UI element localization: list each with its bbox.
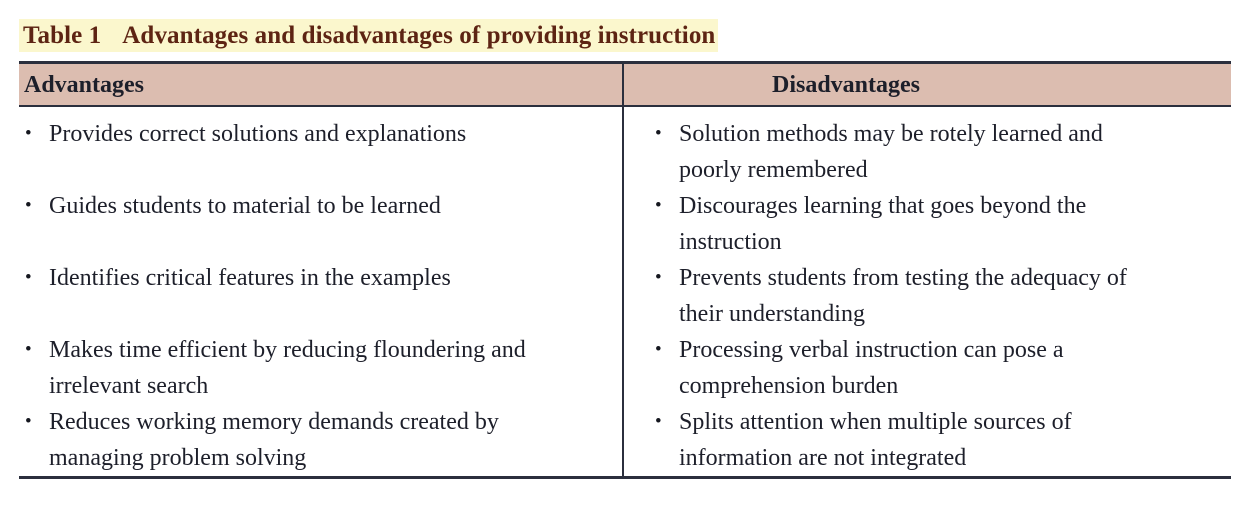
table-header-row: Advantages Disadvantages xyxy=(19,64,1231,107)
column-header-advantages: Advantages xyxy=(19,64,624,105)
list-item-line: Discourages learning that goes beyond th… xyxy=(679,188,1231,224)
list-item-line: irrelevant search xyxy=(49,368,622,404)
list-item-line: Guides students to material to be learne… xyxy=(49,188,622,224)
table-body: Provides correct solutions and explanati… xyxy=(19,107,1231,476)
list-item: Makes time efficient by reducing flounde… xyxy=(23,332,622,404)
list-item-line: instruction xyxy=(679,224,1231,260)
list-item-line: managing problem solving xyxy=(49,440,622,476)
list-item: Splits attention when multiple sources o… xyxy=(653,404,1231,476)
list-item-line: comprehension burden xyxy=(679,368,1231,404)
list-item: Identifies critical features in the exam… xyxy=(23,260,622,296)
column-header-disadvantages-label: Disadvantages xyxy=(772,71,920,99)
list-item: Discourages learning that goes beyond th… xyxy=(653,188,1231,260)
list-item-line: Splits attention when multiple sources o… xyxy=(679,404,1231,440)
list-item-line: Solution methods may be rotely learned a… xyxy=(679,116,1231,152)
disadvantages-cell: Solution methods may be rotely learned a… xyxy=(624,107,1231,476)
list-item-line: Provides correct solutions and explanati… xyxy=(49,116,622,152)
list-item: Solution methods may be rotely learned a… xyxy=(653,116,1231,188)
list-item-line: information are not integrated xyxy=(679,440,1231,476)
column-header-disadvantages: Disadvantages xyxy=(624,64,1231,105)
comparison-table: Advantages Disadvantages Provides correc… xyxy=(19,61,1231,479)
list-item: Reduces working memory demands created b… xyxy=(23,404,622,476)
list-item: Provides correct solutions and explanati… xyxy=(23,116,622,152)
list-item-line: their understanding xyxy=(679,296,1231,332)
caption-label: Table 1 xyxy=(23,21,101,51)
list-item-line: Processing verbal instruction can pose a xyxy=(679,332,1231,368)
list-item: Prevents students from testing the adequ… xyxy=(653,260,1231,332)
list-item-line: Reduces working memory demands created b… xyxy=(49,404,622,440)
list-item-line: Prevents students from testing the adequ… xyxy=(679,260,1231,296)
advantages-cell: Provides correct solutions and explanati… xyxy=(19,107,624,476)
column-header-advantages-label: Advantages xyxy=(24,71,144,99)
list-item: Guides students to material to be learne… xyxy=(23,188,622,224)
table-caption: Table 1 Advantages and disadvantages of … xyxy=(19,19,718,52)
list-item-line: poorly remembered xyxy=(679,152,1231,188)
list-item-line: Makes time efficient by reducing flounde… xyxy=(49,332,622,368)
caption-title: Advantages and disadvantages of providin… xyxy=(122,21,715,51)
table-figure: Table 1 Advantages and disadvantages of … xyxy=(0,0,1250,516)
disadvantages-list: Solution methods may be rotely learned a… xyxy=(653,116,1231,476)
list-item: Processing verbal instruction can pose a… xyxy=(653,332,1231,404)
advantages-list: Provides correct solutions and explanati… xyxy=(23,116,622,476)
list-item-line: Identifies critical features in the exam… xyxy=(49,260,622,296)
